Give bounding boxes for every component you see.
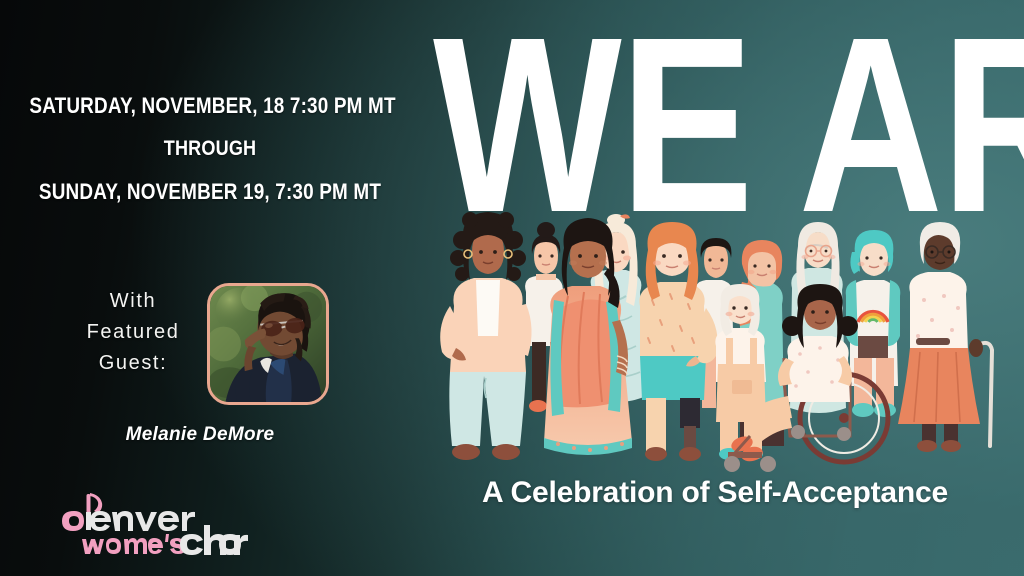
poster-canvas: SATURDAY, NOVEMBER, 18 7:30 PM MT THROUG… (0, 0, 1024, 576)
denver-womens-chorus-logo (44, 489, 254, 561)
event-date-line-2: SUNDAY, NOVEMBER 19, 7:30 PM MT (29, 170, 390, 213)
event-date-line-1: SATURDAY, NOVEMBER, 18 7:30 PM MT (29, 84, 390, 127)
featured-guest-label: With Featured Guest: (58, 286, 208, 379)
event-date-separator: THROUGH (29, 127, 390, 170)
event-date-block: SATURDAY, NOVEMBER, 18 7:30 PM MT THROUG… (0, 84, 420, 213)
crowd-illustration (440, 196, 1000, 472)
featured-guest-row: With Featured Guest: (0, 286, 420, 408)
left-info-panel: SATURDAY, NOVEMBER, 18 7:30 PM MT THROUG… (0, 0, 420, 576)
guest-label-line-2: Featured (58, 317, 208, 348)
featured-guest-name: Melanie DeMore (0, 424, 400, 446)
featured-guest-photo (207, 283, 329, 405)
guest-label-line-1: With (58, 286, 208, 317)
guest-label-line-3: Guest: (58, 348, 208, 379)
page-subtitle: A Celebration of Self-Acceptance (430, 476, 1000, 510)
